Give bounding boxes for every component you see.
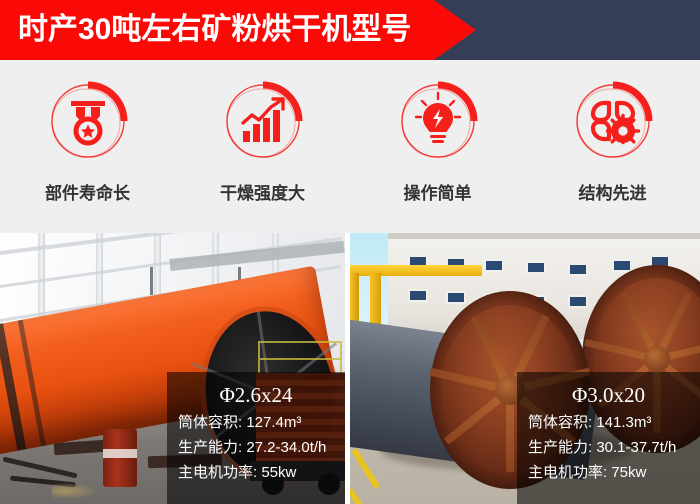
photo-row: Φ2.6x24 筒体容积: 127.4m³ 生产能力: 27.2-34.0t/h… (0, 233, 700, 504)
page-title: 时产30吨左右矿粉烘干机型号 (0, 0, 411, 60)
feature-item-1[interactable]: 部件寿命长 (0, 60, 175, 233)
product-spec-banner: 时产30吨左右矿粉烘干机型号 部件寿命长 (0, 0, 700, 504)
building-window (446, 291, 466, 304)
feature-item-2[interactable]: 干燥强度大 (175, 60, 350, 233)
building-roof (388, 233, 700, 239)
gear-petals-icon (571, 79, 655, 163)
feature-item-4[interactable]: 结构先进 (525, 60, 700, 233)
building-window (568, 295, 588, 308)
building-window (526, 261, 546, 274)
floor-broom (52, 483, 98, 499)
oil-barrel (103, 429, 137, 487)
spec-power: 主电机功率: 55kw (167, 460, 345, 485)
spec-overlay-left: Φ2.6x24 筒体容积: 127.4m³ 生产能力: 27.2-34.0t/h… (167, 372, 345, 504)
spec-capacity: 生产能力: 27.2-34.0t/h (167, 435, 345, 460)
feature-label-3: 操作简单 (404, 179, 472, 204)
spec-model: Φ3.0x20 (517, 380, 700, 410)
feature-label-2: 干燥强度大 (220, 179, 305, 204)
feature-label-1: 部件寿命长 (45, 179, 130, 204)
spec-capacity: 生产能力: 30.1-37.7t/h (517, 435, 700, 460)
spec-power: 主电机功率: 75kw (517, 460, 700, 485)
hook-chain (150, 267, 153, 295)
medal-icon (46, 79, 130, 163)
building-window (612, 259, 632, 272)
lightbulb-icon (396, 79, 480, 163)
feature-strip: 部件寿命长 干燥强度大 (0, 60, 700, 233)
feature-item-3[interactable]: 操作简单 (350, 60, 525, 233)
spec-volume: 筒体容积: 141.3m³ (517, 410, 700, 435)
platform-rail (258, 341, 342, 375)
spec-model: Φ2.6x24 (167, 380, 345, 410)
building-window (568, 263, 588, 276)
building-window (484, 259, 504, 272)
header-ribbon: 时产30吨左右矿粉烘干机型号 (0, 0, 476, 60)
header-band: 时产30吨左右矿粉烘干机型号 (0, 0, 700, 60)
building-window (408, 289, 428, 302)
bar-chart-growth-icon (221, 79, 305, 163)
drum-hub (644, 346, 670, 372)
rotary-dryer-steel-photo[interactable]: Φ3.0x20 筒体容积: 141.3m³ 生产能力: 30.1-37.7t/h… (350, 233, 700, 504)
spec-overlay-right: Φ3.0x20 筒体容积: 141.3m³ 生产能力: 30.1-37.7t/h… (517, 372, 700, 504)
feature-label-4: 结构先进 (579, 179, 647, 204)
rotary-dryer-orange-photo[interactable]: Φ2.6x24 筒体容积: 127.4m³ 生产能力: 27.2-34.0t/h… (0, 233, 345, 504)
spec-volume: 筒体容积: 127.4m³ (167, 410, 345, 435)
